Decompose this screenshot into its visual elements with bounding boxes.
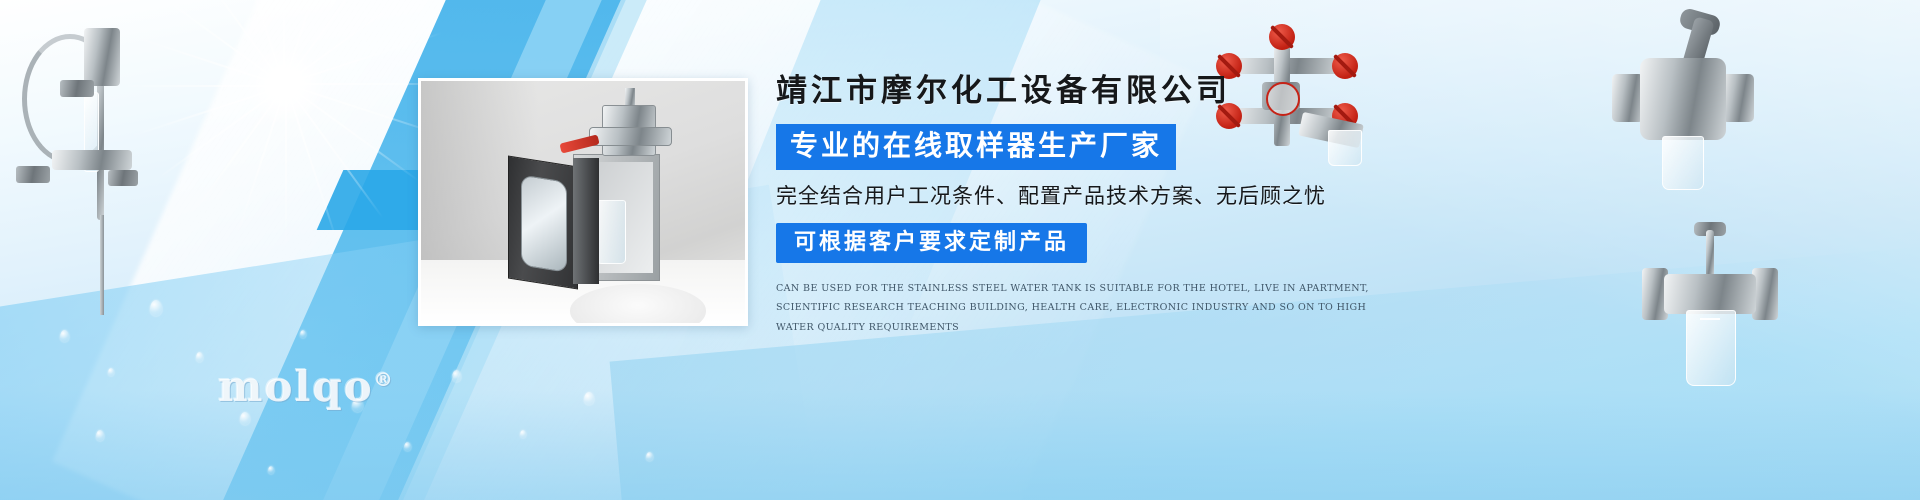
- valve-body: [1640, 58, 1726, 140]
- sampler-valve-mid: [52, 150, 132, 170]
- photo-cabinet-door: [508, 155, 578, 289]
- sampler-sight-glass: [84, 92, 99, 172]
- watermark-text: molqo: [218, 362, 374, 411]
- company-name: 靖江市摩尔化工设备有限公司: [776, 76, 1416, 107]
- water-droplet: [150, 300, 162, 316]
- sampler-housing: [84, 28, 120, 86]
- sampler-valve-right: [108, 170, 138, 186]
- sampler-valve-left: [16, 166, 50, 183]
- valve-handwheel: [1269, 24, 1295, 50]
- sampler-glass-highlight: [1700, 318, 1720, 320]
- water-droplet: [300, 330, 306, 338]
- valve-crossbar-top: [1228, 58, 1340, 74]
- registered-mark-icon: ®: [374, 369, 395, 391]
- subline-text: 完全结合用户工况条件、配置产品技术方案、无后顾之忧: [776, 186, 1416, 207]
- sampler-glass-tube: [1686, 310, 1736, 386]
- product-photo: [418, 78, 748, 326]
- tagline-badge: 可根据客户要求定制产品: [776, 223, 1087, 263]
- valve-flange-left: [1612, 74, 1644, 122]
- water-droplet: [452, 370, 461, 382]
- photo-door-window: [522, 174, 568, 273]
- water-droplet: [646, 452, 653, 461]
- photo-valve-flange: [589, 127, 672, 146]
- sampler-body: [1664, 274, 1756, 314]
- sun-core: [245, 45, 324, 124]
- sampler-probe-rod: [100, 215, 104, 315]
- product-photo-inner: [421, 81, 745, 323]
- sampler-valve-top: [60, 80, 94, 97]
- banner-copy: 靖江市摩尔化工设备有限公司 专业的在线取样器生产厂家 完全结合用户工况条件、配置…: [776, 76, 1416, 337]
- headline-badge: 专业的在线取样器生产厂家: [776, 124, 1176, 170]
- sampler-cap: [1694, 222, 1726, 236]
- watermark-logo: molqo®: [218, 362, 395, 411]
- photo-red-handle: [560, 135, 600, 154]
- sampler-flange-right: [1752, 268, 1778, 320]
- sampler-stem: [1706, 230, 1714, 278]
- water-droplet: [196, 352, 203, 362]
- promo-banner: 靖江市摩尔化工设备有限公司 专业的在线取样器生产厂家 完全结合用户工况条件、配置…: [0, 0, 1920, 500]
- sampler-post: [97, 30, 104, 220]
- water-droplet: [520, 430, 526, 438]
- water-droplet: [268, 466, 274, 474]
- water-droplet: [96, 430, 104, 441]
- sampler-flange-left: [1642, 268, 1668, 320]
- sampler-loop: [22, 34, 118, 164]
- valve-sample-glass: [1662, 136, 1704, 190]
- valve-flange-right: [1722, 74, 1754, 122]
- water-droplet: [108, 368, 114, 376]
- photo-sample-bottle: [596, 200, 626, 264]
- valve-lever: [1681, 16, 1715, 71]
- water-droplet: [60, 330, 69, 342]
- sun-burst-icon: [120, 0, 450, 250]
- english-blurb: CAN BE USED FOR THE STAINLESS STEEL WATE…: [776, 279, 1376, 337]
- valve-lever-grip: [1678, 7, 1722, 37]
- water-droplet: [584, 392, 594, 405]
- water-droplet: [404, 442, 411, 451]
- photo-door-edge: [573, 158, 599, 284]
- water-droplet: [240, 412, 250, 425]
